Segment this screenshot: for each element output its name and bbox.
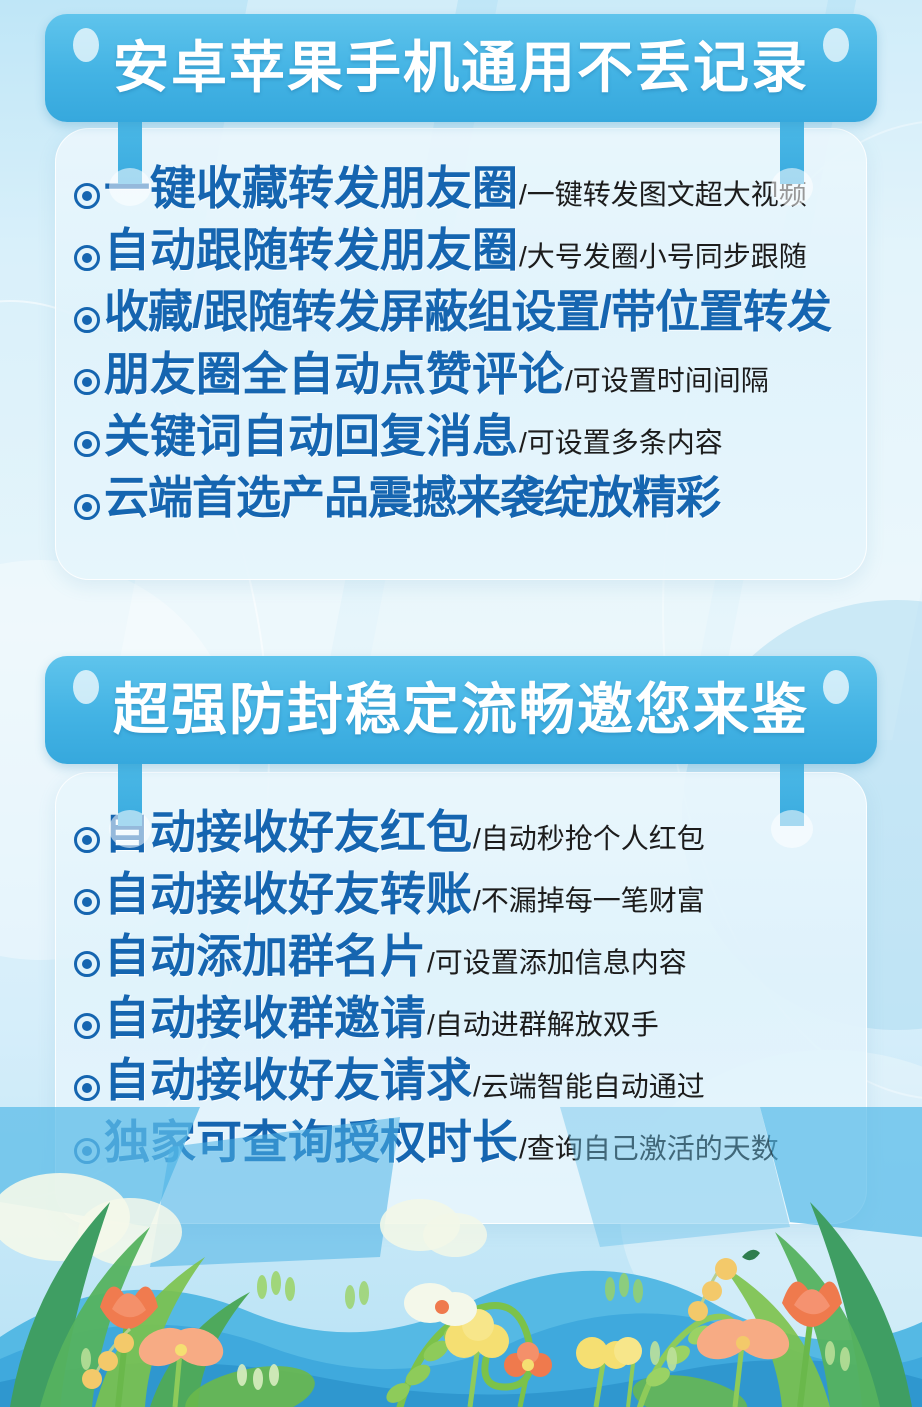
double-circle-icon [74,369,100,395]
feature-sub-text: /云端智能自动通过 [473,1073,705,1101]
feature-row: 自动接收好友转账 /不漏掉每一笔财富 [56,871,866,933]
feature-row: 自动接收群邀请 /自动进群解放双手 [56,995,866,1057]
double-circle-icon [74,1013,100,1039]
feature-row: 自动添加群名片 /可设置添加信息内容 [56,933,866,995]
feature-main-text: 自动接收好友红包 [104,809,472,855]
feature-main-text: 收藏/跟随转发屏蔽组设置/带位置转发 [104,289,831,334]
banner-plaque: 超强防封稳定流畅邀您来鉴 [45,656,877,764]
post-foot [771,168,813,206]
banner-post-right [780,760,804,826]
feature-row: 关键词自动回复消息 /可设置多条内容 [56,413,866,475]
feature-main-text: 自动跟随转发朋友圈 [104,227,518,273]
feature-row: 一键收藏转发朋友圈 /一键转发图文超大视频 [56,165,866,227]
feature-sub-text: /大号发圈小号同步跟随 [519,243,807,271]
double-circle-icon [74,889,100,915]
feature-row: 自动跟随转发朋友圈 /大号发圈小号同步跟随 [56,227,866,289]
feature-row: 云端首选产品震撼来袭绽放精彩 [56,475,866,539]
banner-title: 超强防封稳定流畅邀您来鉴 [113,682,809,738]
double-circle-icon [74,307,100,333]
double-circle-icon [74,245,100,271]
feature-sub-text: /不漏掉每一笔财富 [473,887,705,915]
screw-dot-icon [823,28,849,62]
banner-post-right [780,118,804,184]
feature-sub-text: /自动秒抢个人红包 [473,825,705,853]
feature-list-1: 一键收藏转发朋友圈 /一键转发图文超大视频 自动跟随转发朋友圈 /大号发圈小号同… [56,165,866,539]
double-circle-icon [74,1075,100,1101]
floral-hills-illustration [0,1107,922,1407]
feature-main-text: 自动接收好友请求 [104,1057,472,1103]
feature-sub-text: /可设置多条内容 [519,429,723,457]
feature-main-text: 关键词自动回复消息 [104,413,518,459]
double-circle-icon [74,183,100,209]
post-foot [109,810,151,848]
banner-plaque: 安卓苹果手机通用不丢记录 [45,14,877,122]
double-circle-icon [74,494,100,520]
feature-sub-text: /可设置添加信息内容 [427,949,687,977]
banner-title: 安卓苹果手机通用不丢记录 [113,40,809,96]
feature-main-text: 朋友圈全自动点赞评论 [104,351,564,397]
feature-main-text: 自动添加群名片 [104,933,426,979]
feature-row: 朋友圈全自动点赞评论 /可设置时间间隔 [56,351,866,413]
banner-section-1: 安卓苹果手机通用不丢记录 [0,14,922,122]
banner-post-left [118,760,142,826]
feature-main-text: 自动接收群邀请 [104,995,426,1041]
double-circle-icon [74,827,100,853]
screw-dot-icon [823,670,849,704]
banner-section-2: 超强防封稳定流畅邀您来鉴 [0,656,922,764]
feature-main-text: 自动接收好友转账 [104,871,472,917]
feature-row: 收藏/跟随转发屏蔽组设置/带位置转发 [56,289,866,351]
feature-main-text: 一键收藏转发朋友圈 [104,165,518,211]
screw-dot-icon [73,670,99,704]
feature-sub-text: /可设置时间间隔 [565,367,769,395]
screw-dot-icon [73,28,99,62]
banner-post-left [118,118,142,184]
double-circle-icon [74,431,100,457]
post-foot [771,810,813,848]
post-foot [109,168,151,206]
feature-row: 自动接收好友红包 /自动秒抢个人红包 [56,809,866,871]
feature-card-1: 一键收藏转发朋友圈 /一键转发图文超大视频 自动跟随转发朋友圈 /大号发圈小号同… [55,128,867,580]
feature-sub-text: /一键转发图文超大视频 [519,181,807,209]
feature-main-text: 云端首选产品震撼来袭绽放精彩 [104,475,720,520]
promo-poster: 安卓苹果手机通用不丢记录 一键收藏转发朋友圈 /一键转发图文超大视频 自动跟随转… [0,0,922,1407]
double-circle-icon [74,951,100,977]
feature-sub-text: /自动进群解放双手 [427,1011,659,1039]
